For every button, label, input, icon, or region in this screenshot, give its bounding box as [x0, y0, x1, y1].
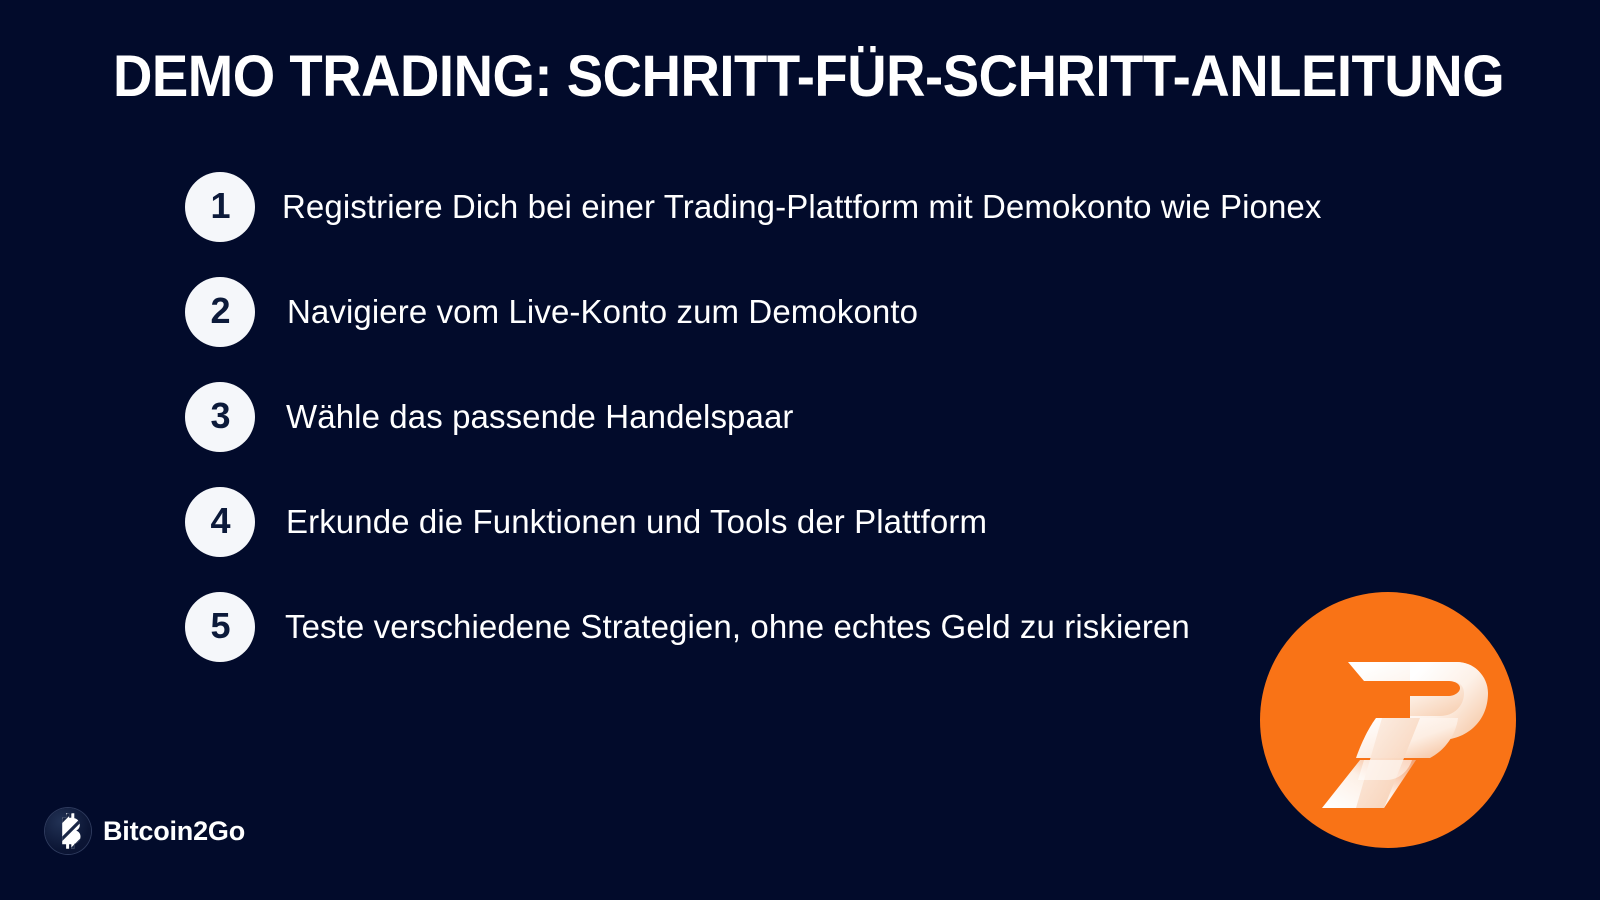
brand-name: Bitcoin2Go [103, 818, 245, 845]
list-item: 5 Teste verschiedene Strategien, ohne ec… [185, 592, 1385, 697]
step-text: Wähle das passende Handelspaar [286, 382, 794, 452]
step-number: 3 [210, 398, 229, 436]
brand-lockup: Bitcoin2Go [45, 808, 245, 854]
step-number-badge: 2 [185, 277, 255, 347]
pionex-logo-icon [1260, 592, 1516, 848]
steps-list: 1 Registriere Dich bei einer Trading-Pla… [185, 172, 1385, 697]
list-item: 2 Navigiere vom Live-Konto zum Demokonto [185, 277, 1385, 382]
list-item: 3 Wähle das passende Handelspaar [185, 382, 1385, 487]
step-number: 1 [210, 188, 229, 226]
step-number-badge: 3 [185, 382, 255, 452]
step-text: Registriere Dich bei einer Trading-Platt… [282, 172, 1322, 242]
list-item: 1 Registriere Dich bei einer Trading-Pla… [185, 172, 1385, 277]
infographic-canvas: DEMO TRADING: SCHRITT-FÜR-SCHRITT-ANLEIT… [0, 0, 1600, 900]
step-number: 4 [210, 503, 229, 541]
step-text: Erkunde die Funktionen und Tools der Pla… [286, 487, 987, 557]
list-item: 4 Erkunde die Funktionen und Tools der P… [185, 487, 1385, 592]
step-number-badge: 5 [185, 592, 255, 662]
step-text: Navigiere vom Live-Konto zum Demokonto [287, 277, 918, 347]
step-number-badge: 1 [185, 172, 255, 242]
step-number: 2 [210, 293, 229, 331]
step-number-badge: 4 [185, 487, 255, 557]
step-number: 5 [210, 608, 229, 646]
step-text: Teste verschiedene Strategien, ohne echt… [285, 592, 1190, 662]
bitcoin2go-logo-icon [45, 808, 91, 854]
page-title: DEMO TRADING: SCHRITT-FÜR-SCHRITT-ANLEIT… [113, 46, 1429, 108]
